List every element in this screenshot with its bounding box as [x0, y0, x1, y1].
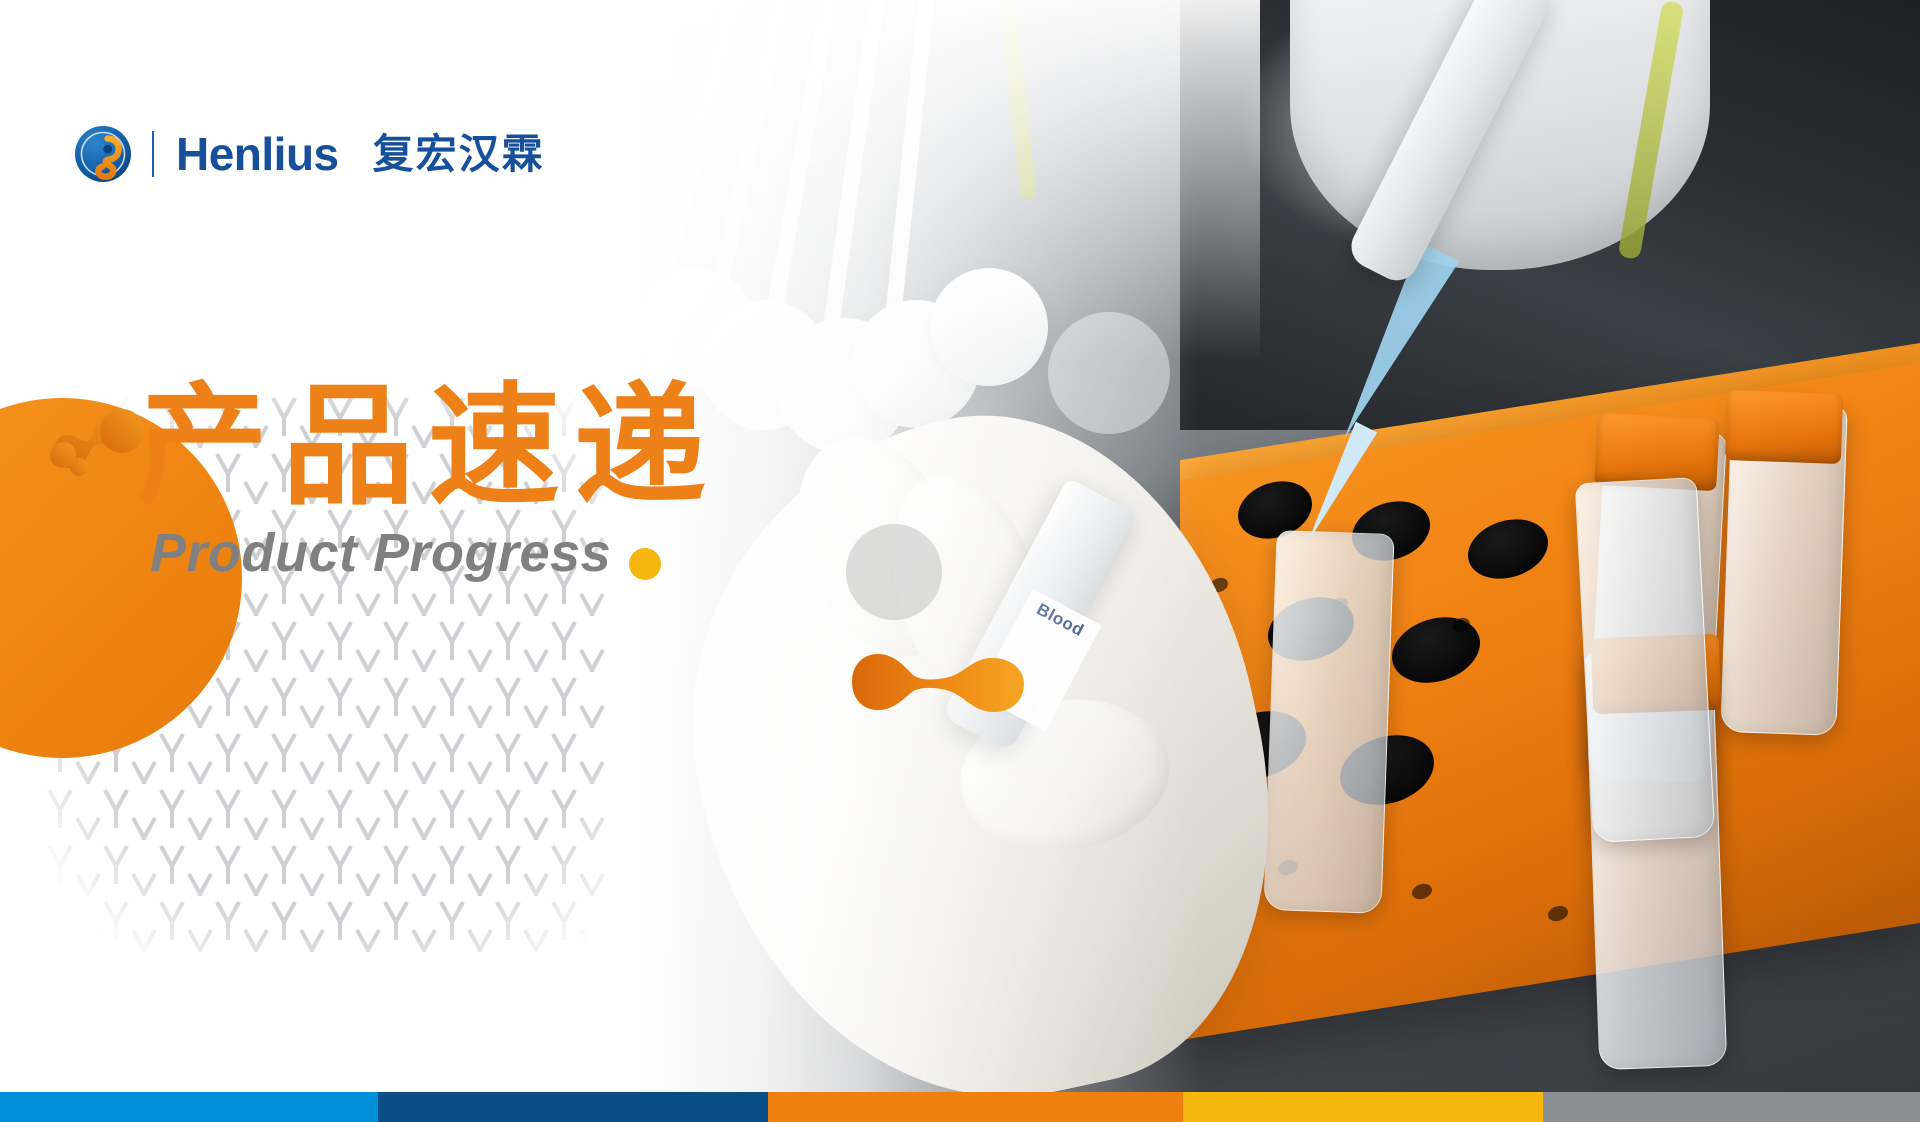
molecule-icon-large	[848, 640, 1028, 720]
henlius-emblem-icon	[74, 125, 132, 183]
plate-well	[930, 268, 1048, 386]
segment-grey	[1543, 1092, 1920, 1122]
logo-wordmark: Henlius	[176, 131, 339, 177]
tube-cap	[1725, 390, 1843, 464]
grey-circle-decoration-upper	[1048, 312, 1170, 434]
grey-circle-decoration	[846, 524, 942, 620]
logo-divider	[152, 131, 154, 177]
test-tube-clear	[1263, 530, 1394, 914]
logo-chinese-name: 复宏汉霖	[373, 134, 545, 175]
segment-amber	[1183, 1092, 1543, 1122]
brand-logo[interactable]: Henlius 复宏汉霖	[74, 123, 545, 185]
segment-orange	[768, 1092, 1183, 1122]
slide-root: Blood	[0, 0, 1920, 1122]
segment-dark-blue	[378, 1092, 768, 1122]
bottom-color-bar	[0, 1092, 1920, 1122]
amber-dot-decoration	[629, 548, 661, 580]
page-title-chinese: 产品速递	[136, 372, 720, 524]
test-tube	[1575, 477, 1716, 843]
segment-light-blue	[0, 1092, 378, 1122]
page-subtitle-english: Product Progress	[150, 522, 611, 584]
